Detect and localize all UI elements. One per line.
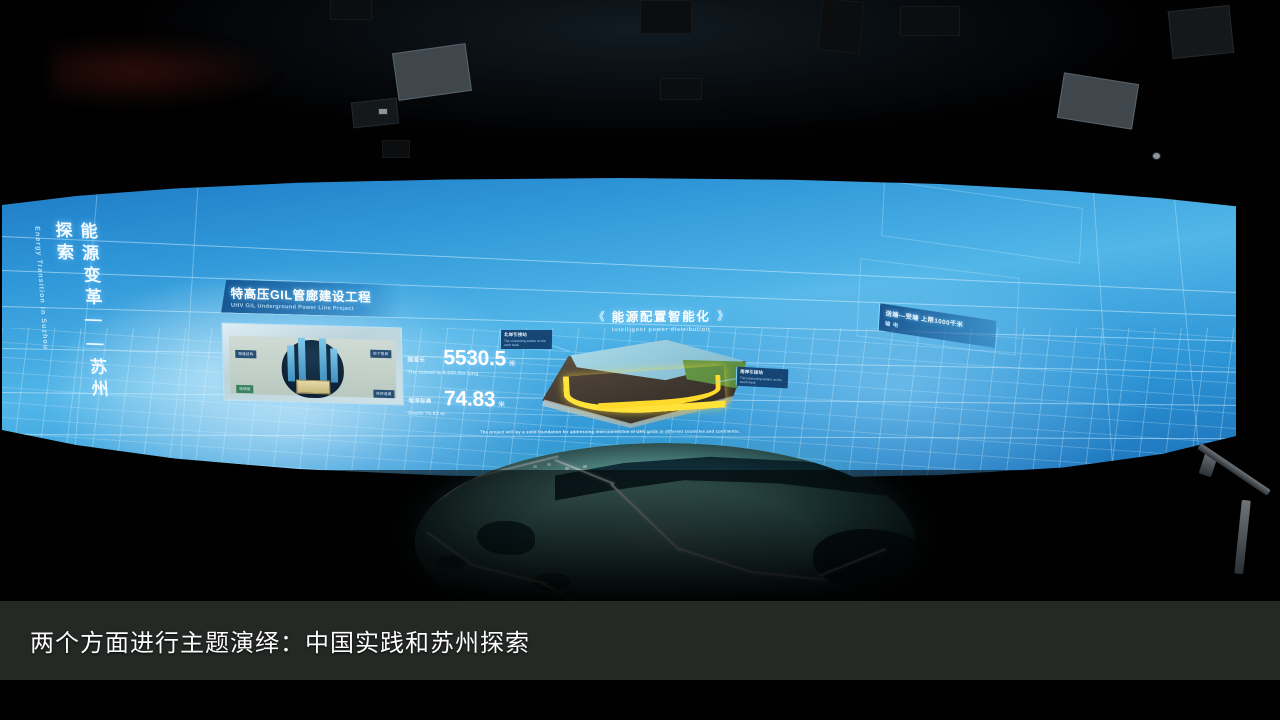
cutaway-tag-north-station: 北岸引接站 The connecting station on the nort… (500, 330, 552, 348)
gil-project-header: 特高压GIL管廊建设工程 UHV GIL Underground Power L… (220, 280, 401, 318)
ceiling-projector-4 (817, 0, 864, 54)
gil-project-panel: 特高压GIL管廊建设工程 UHV GIL Underground Power L… (220, 280, 404, 406)
center-section-title: 《 能源配置智能化 》 Intelligent power distributi… (566, 305, 756, 333)
ceiling-projector-2 (392, 43, 472, 101)
metric-value-1: 74.83 (444, 388, 495, 410)
metric-label-cn-0: 隧道长 (407, 355, 425, 363)
ceiling-light-1 (378, 108, 388, 115)
schematic-tag-4: 检修通道 (373, 390, 394, 399)
video-watermark (52, 36, 280, 104)
north-station-label-en: The connecting station on the north bank (504, 339, 549, 347)
schematic-tower-4 (330, 349, 338, 383)
south-station-label-en: The connecting station on the south bank (740, 375, 785, 385)
gil-tunnel-schematic: 隧道结构 地下管廊 电缆舱 检修通道 (221, 322, 403, 405)
subtitle-text: 两个方面进行主题演绎：中国实践和苏州探索 (30, 623, 530, 658)
exhibition-hall-scene: 能源变革——苏州探索 Energy Transition in Suzhou 特… (0, 0, 1280, 720)
cutaway-english-caption: The project will lay a solid foundation … (480, 428, 780, 434)
ceiling-speaker (382, 140, 410, 158)
schematic-tower-2 (298, 338, 306, 382)
letterbox-bottom (0, 680, 1280, 720)
bracket-right-icon: 》 (717, 307, 728, 323)
schematic-tag-3: 电缆舱 (236, 385, 254, 393)
schematic-tower-3 (319, 338, 327, 382)
schematic-tower-1 (287, 345, 295, 381)
subtitle-bar: 两个方面进行主题演绎：中国实践和苏州探索 (0, 601, 1280, 680)
wall-vertical-title: 能源变革——苏州探索 Energy Transition in Suzhou (49, 221, 153, 424)
center-title-cn: 能源配置智能化 (612, 306, 711, 326)
metric-label-cn-1: 埋深标高 (408, 396, 432, 404)
ceiling-truss-1 (640, 0, 692, 34)
schematic-tag-1: 隧道结构 (235, 350, 256, 359)
ceiling-projector-7 (1168, 5, 1235, 59)
schematic-cable-bay (296, 380, 330, 395)
metric-value-0: 5530.5 (443, 347, 506, 369)
ceiling-projector-1 (330, 0, 372, 20)
metric-unit-0: 米 (509, 361, 516, 368)
ceiling-light-2 (1152, 152, 1161, 160)
cutaway-tag-south-station: 南岸引接站 The connecting station on the sout… (736, 367, 789, 388)
north-station-label-cn: 北岸引接站 (504, 332, 549, 338)
schematic-tag-2: 地下管廊 (370, 350, 391, 359)
ceiling-projector-5 (900, 6, 960, 36)
ceiling-projector-3 (351, 98, 399, 129)
bracket-left-icon: 《 (594, 308, 605, 324)
metric-unit-1: 米 (498, 401, 505, 408)
ceiling-truss-2 (660, 78, 702, 100)
